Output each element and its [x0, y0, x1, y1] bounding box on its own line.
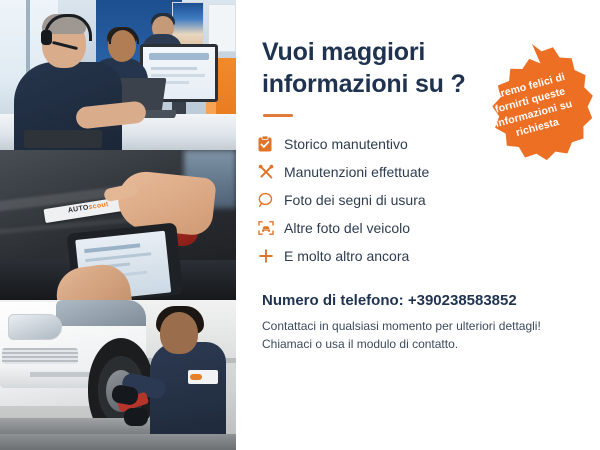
contact-note: Contattaci in qualsiasi momento per ulte…: [262, 317, 582, 353]
feature-item-label: Storico manutentivo: [284, 136, 408, 152]
feature-item-label: Manutenzioni effettuate: [284, 164, 429, 180]
phone-line[interactable]: Numero di telefono: +390238583852: [262, 292, 517, 309]
feature-item-label: Altre foto del veicolo: [284, 220, 410, 236]
promo-banner: AUTOscout: [0, 0, 600, 450]
vehicle-label-inspection-photo: AUTOscout: [0, 150, 236, 300]
feature-item-altre-foto-veicolo[interactable]: Altre foto del veicolo: [258, 214, 558, 242]
mechanic-head: [160, 312, 198, 354]
feature-item-foto-segni-usura[interactable]: Foto dei segni di usura: [258, 186, 558, 214]
feature-item-storico-manutentivo[interactable]: Storico manutentivo: [258, 130, 558, 158]
car-headlight: [8, 314, 62, 340]
uniform-logo-mark: [190, 374, 202, 380]
phone-number[interactable]: +390238583852: [408, 292, 517, 309]
uniform-logo: [188, 370, 218, 384]
headset-earcup: [41, 30, 52, 45]
tools-cross-icon: [258, 164, 284, 180]
plus-icon: [258, 248, 284, 264]
feature-item-molto-altro[interactable]: E molto altro ancora: [258, 242, 558, 270]
phone-label: Numero di telefono:: [262, 292, 404, 309]
car-scan-icon: [258, 220, 284, 236]
magnifier-icon: [258, 192, 284, 208]
screen-line: [151, 67, 197, 70]
mechanic-wheel-service-photo: [0, 300, 236, 450]
photo-column: AUTOscout: [0, 0, 236, 450]
page-title-line-2: informazioni su ?: [262, 68, 482, 100]
clipboard-check-icon: [258, 136, 284, 152]
info-panel: Vuoi maggiori informazioni su ? Saremo f…: [236, 0, 600, 450]
headset-icon: [456, 42, 482, 64]
feature-item-manutenzioni-effettuate[interactable]: Manutenzioni effettuate: [258, 158, 558, 186]
screen-toolbar: [149, 53, 209, 60]
contact-note-line-2: Chiamaci o usa il modulo di contatto.: [262, 335, 582, 353]
title-divider: [263, 114, 293, 117]
car-grille: [2, 348, 78, 364]
feature-list: Storico manutentivo Manutenzioni effettu…: [258, 130, 558, 270]
desk-tablet: [24, 130, 102, 148]
call-center-operators-photo: [0, 0, 236, 150]
screen-line: [151, 74, 205, 77]
tablet-line: [85, 252, 151, 262]
page-title-line-1: Vuoi maggiori: [262, 36, 482, 68]
mechanic-glove: [124, 408, 148, 426]
workshop-floor: [0, 434, 236, 450]
feature-item-label: Foto dei segni di usura: [284, 192, 426, 208]
car-chrome-trim: [30, 372, 92, 377]
feature-item-label: E molto altro ancora: [284, 248, 409, 264]
page-title: Vuoi maggiori informazioni su ?: [262, 36, 482, 100]
car-windshield: [56, 300, 146, 326]
tablet-line: [84, 243, 140, 253]
contact-note-line-1: Contattaci in qualsiasi momento per ulte…: [262, 317, 582, 335]
